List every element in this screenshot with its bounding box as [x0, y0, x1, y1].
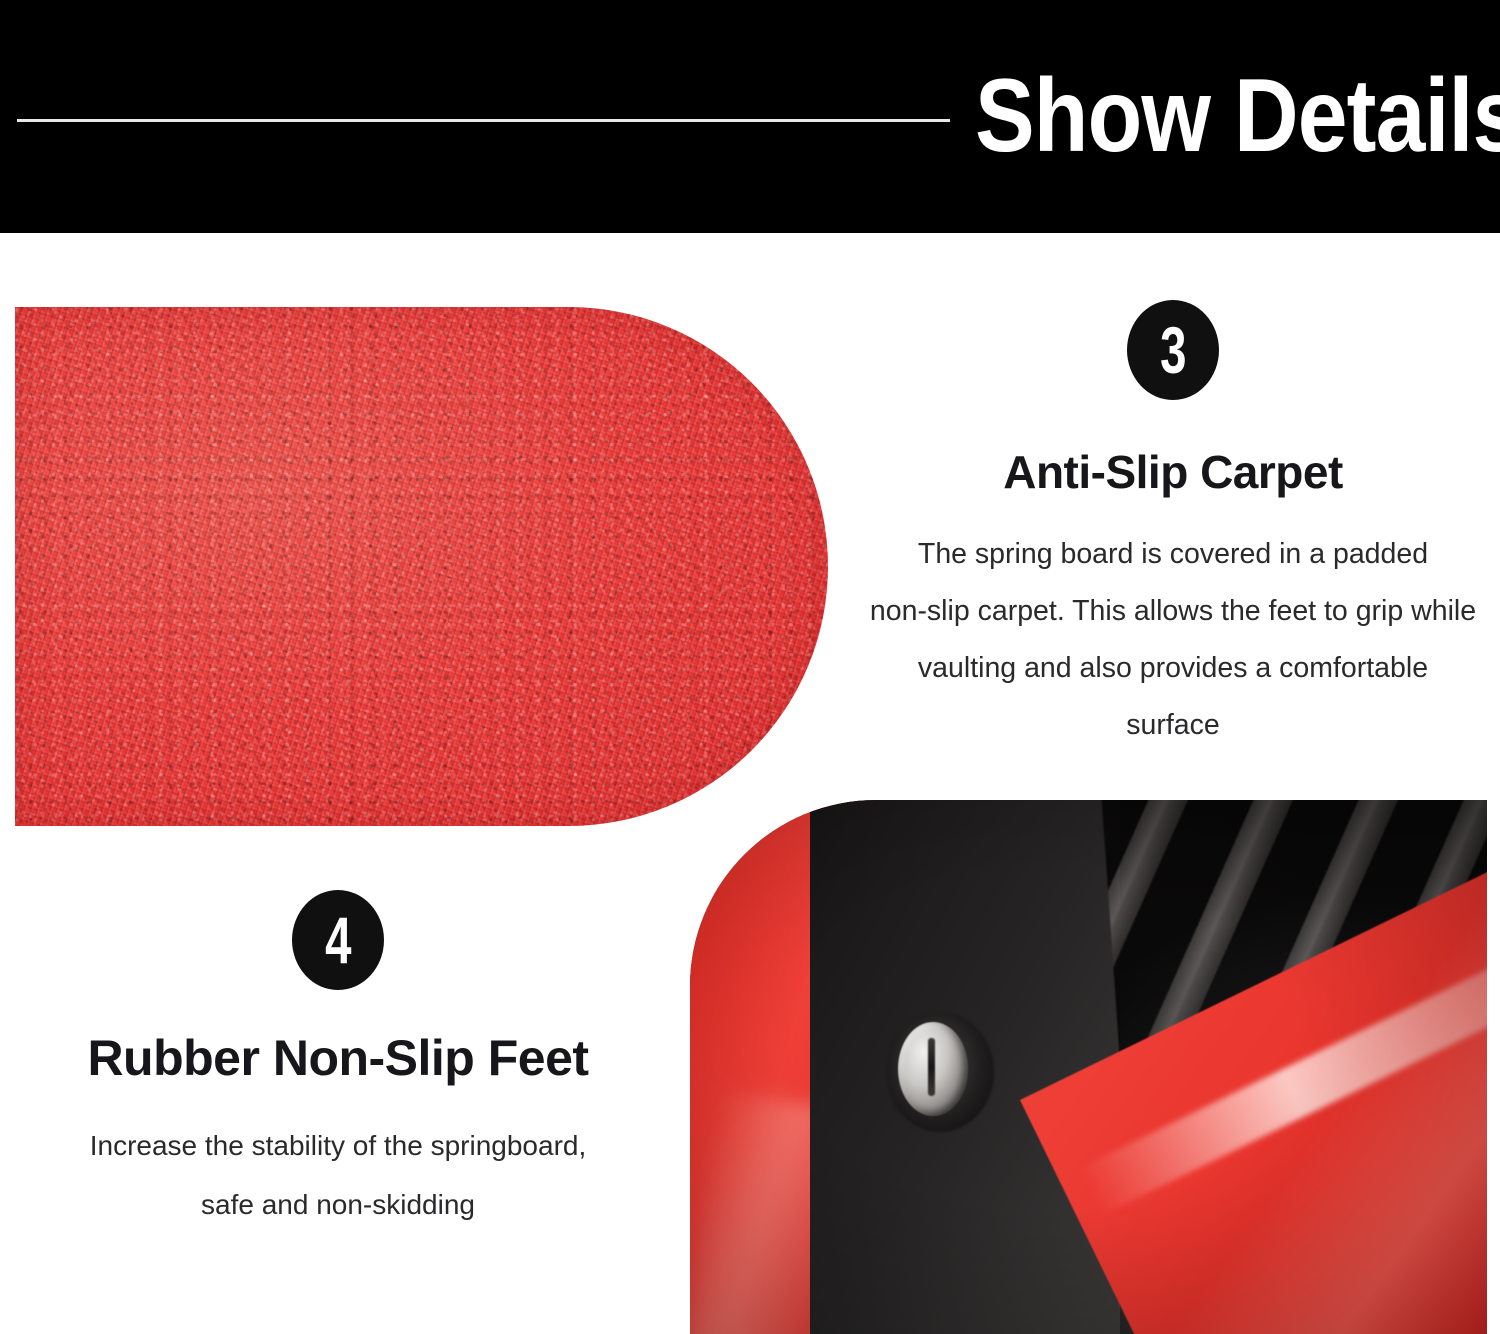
feature-number-badge-4-label: 4 [325, 890, 351, 990]
feature-body-line: Increase the stability of the springboar… [28, 1116, 648, 1175]
feature-number-badge-3-label: 3 [1160, 300, 1186, 400]
feature-number-badge-3: 3 [1127, 300, 1219, 400]
feature-number-badge-4: 4 [292, 890, 384, 990]
feature-block-anti-slip-carpet: 3 Anti-Slip Carpet The spring board is c… [862, 300, 1484, 754]
feature-body-line: safe and non-skidding [28, 1175, 648, 1234]
header-banner: Show Details [0, 0, 1500, 233]
feature-body-line: The spring board is covered in a padded [862, 526, 1484, 583]
feature-title-anti-slip-carpet: Anti-Slip Carpet [862, 444, 1484, 500]
feature-body-line: vaulting and also provides a comfortable [862, 640, 1484, 697]
feature-body-rubber-non-slip-feet: Increase the stability of the springboar… [28, 1116, 648, 1234]
header-divider-rule [17, 119, 950, 122]
page-title: Show Details [975, 52, 1405, 182]
screw-slot [928, 1038, 935, 1096]
feature-block-rubber-non-slip-feet: 4 Rubber Non-Slip Feet Increase the stab… [28, 890, 648, 1234]
rubber-foot-photo [690, 800, 1487, 1334]
feature-title-rubber-non-slip-feet: Rubber Non-Slip Feet [28, 1030, 648, 1086]
feature-body-anti-slip-carpet: The spring board is covered in a padded … [862, 526, 1484, 754]
product-detail-infographic: Show Details 3 Anti-Slip Carpet The spri… [0, 0, 1500, 1334]
feature-body-line: surface [862, 697, 1484, 754]
feature-body-line: non-slip carpet. This allows the feet to… [862, 583, 1484, 640]
anti-slip-carpet-photo [15, 307, 828, 826]
